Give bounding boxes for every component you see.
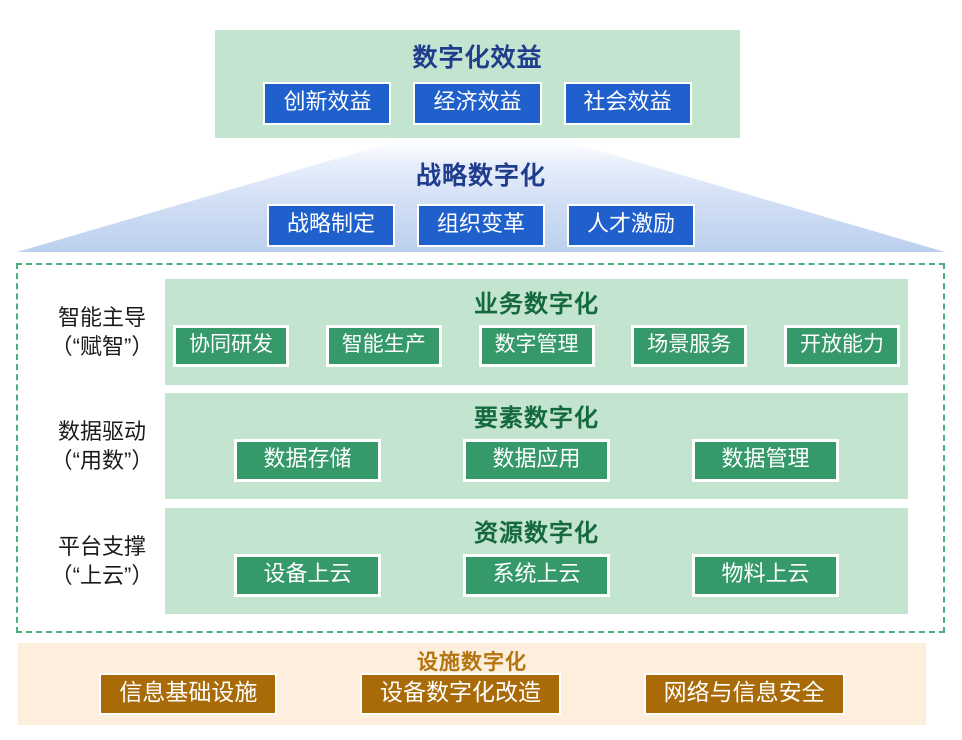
core-panel-title-element: 要素数字化 bbox=[165, 398, 908, 433]
benefit-layer-band: 数字化效益 创新效益 经济效益 社会效益 bbox=[215, 30, 740, 138]
core-panel-resource: 资源数字化 设备上云 系统上云 物料上云 bbox=[165, 508, 908, 614]
element-chip-data-application[interactable]: 数据应用 bbox=[463, 439, 609, 482]
core-panel-title-resource: 资源数字化 bbox=[165, 513, 908, 548]
benefit-chip-economic[interactable]: 经济效益 bbox=[413, 82, 541, 125]
core-row-label-element: 数据驱动 （“用数”） bbox=[28, 393, 176, 499]
strategy-layer-chip-row: 战略制定 组织变革 人才激励 bbox=[0, 204, 962, 247]
benefit-layer-chip-row: 创新效益 经济效益 社会效益 bbox=[215, 82, 740, 125]
core-row-label-business: 智能主导 （“赋智”） bbox=[28, 279, 176, 385]
core-row-label-resource: 平台支撑 （“上云”） bbox=[28, 508, 176, 614]
digital-core-container: 智能主导 （“赋智”） 业务数字化 协同研发 智能生产 数字管理 场景服务 开放… bbox=[16, 263, 945, 633]
business-chip-scenario-service[interactable]: 场景服务 bbox=[631, 325, 747, 367]
business-chip-digital-management[interactable]: 数字管理 bbox=[479, 325, 595, 367]
facility-layer-title: 设施数字化 bbox=[18, 646, 926, 676]
core-panel-business: 业务数字化 协同研发 智能生产 数字管理 场景服务 开放能力 bbox=[165, 279, 908, 385]
core-row-label-resource-line2: （“上云”） bbox=[51, 561, 154, 590]
core-row-label-business-line1: 智能主导 bbox=[58, 303, 146, 332]
core-row-label-resource-line1: 平台支撑 bbox=[58, 532, 146, 561]
strategy-chip-planning[interactable]: 战略制定 bbox=[267, 204, 395, 247]
core-panel-title-business: 业务数字化 bbox=[165, 284, 908, 319]
core-panel-chip-row-resource: 设备上云 系统上云 物料上云 bbox=[165, 554, 908, 597]
business-chip-smart-production[interactable]: 智能生产 bbox=[326, 325, 442, 367]
benefit-chip-innovation[interactable]: 创新效益 bbox=[263, 82, 391, 125]
element-chip-data-management[interactable]: 数据管理 bbox=[692, 439, 838, 482]
core-row-label-element-line2: （“用数”） bbox=[51, 446, 154, 475]
facility-chip-it-infrastructure[interactable]: 信息基础设施 bbox=[99, 673, 277, 715]
strategy-chip-talent-incentive[interactable]: 人才激励 bbox=[567, 204, 695, 247]
facility-chip-equipment-retrofit[interactable]: 设备数字化改造 bbox=[360, 673, 561, 715]
resource-chip-equipment-cloud[interactable]: 设备上云 bbox=[234, 554, 380, 597]
core-row-label-business-line2: （“赋智”） bbox=[51, 332, 154, 361]
core-panel-element: 要素数字化 数据存储 数据应用 数据管理 bbox=[165, 393, 908, 499]
core-row-business: 智能主导 （“赋智”） 业务数字化 协同研发 智能生产 数字管理 场景服务 开放… bbox=[18, 279, 943, 385]
business-chip-collab-rd[interactable]: 协同研发 bbox=[173, 325, 289, 367]
core-row-element: 数据驱动 （“用数”） 要素数字化 数据存储 数据应用 数据管理 bbox=[18, 393, 943, 499]
facility-chip-network-security[interactable]: 网络与信息安全 bbox=[644, 673, 845, 715]
benefit-chip-social[interactable]: 社会效益 bbox=[564, 82, 692, 125]
strategy-layer-title: 战略数字化 bbox=[0, 156, 962, 192]
benefit-layer-title: 数字化效益 bbox=[215, 38, 740, 74]
element-chip-data-storage[interactable]: 数据存储 bbox=[234, 439, 380, 482]
strategy-chip-org-reform[interactable]: 组织变革 bbox=[417, 204, 545, 247]
core-row-resource: 平台支撑 （“上云”） 资源数字化 设备上云 系统上云 物料上云 bbox=[18, 508, 943, 614]
resource-chip-material-cloud[interactable]: 物料上云 bbox=[692, 554, 838, 597]
business-chip-open-capability[interactable]: 开放能力 bbox=[784, 325, 900, 367]
core-panel-chip-row-business: 协同研发 智能生产 数字管理 场景服务 开放能力 bbox=[165, 325, 908, 367]
facility-layer-band: 设施数字化 信息基础设施 设备数字化改造 网络与信息安全 bbox=[18, 643, 926, 725]
core-row-label-element-line1: 数据驱动 bbox=[58, 417, 146, 446]
facility-layer-chip-row: 信息基础设施 设备数字化改造 网络与信息安全 bbox=[18, 673, 926, 715]
resource-chip-system-cloud[interactable]: 系统上云 bbox=[463, 554, 609, 597]
core-panel-chip-row-element: 数据存储 数据应用 数据管理 bbox=[165, 439, 908, 482]
